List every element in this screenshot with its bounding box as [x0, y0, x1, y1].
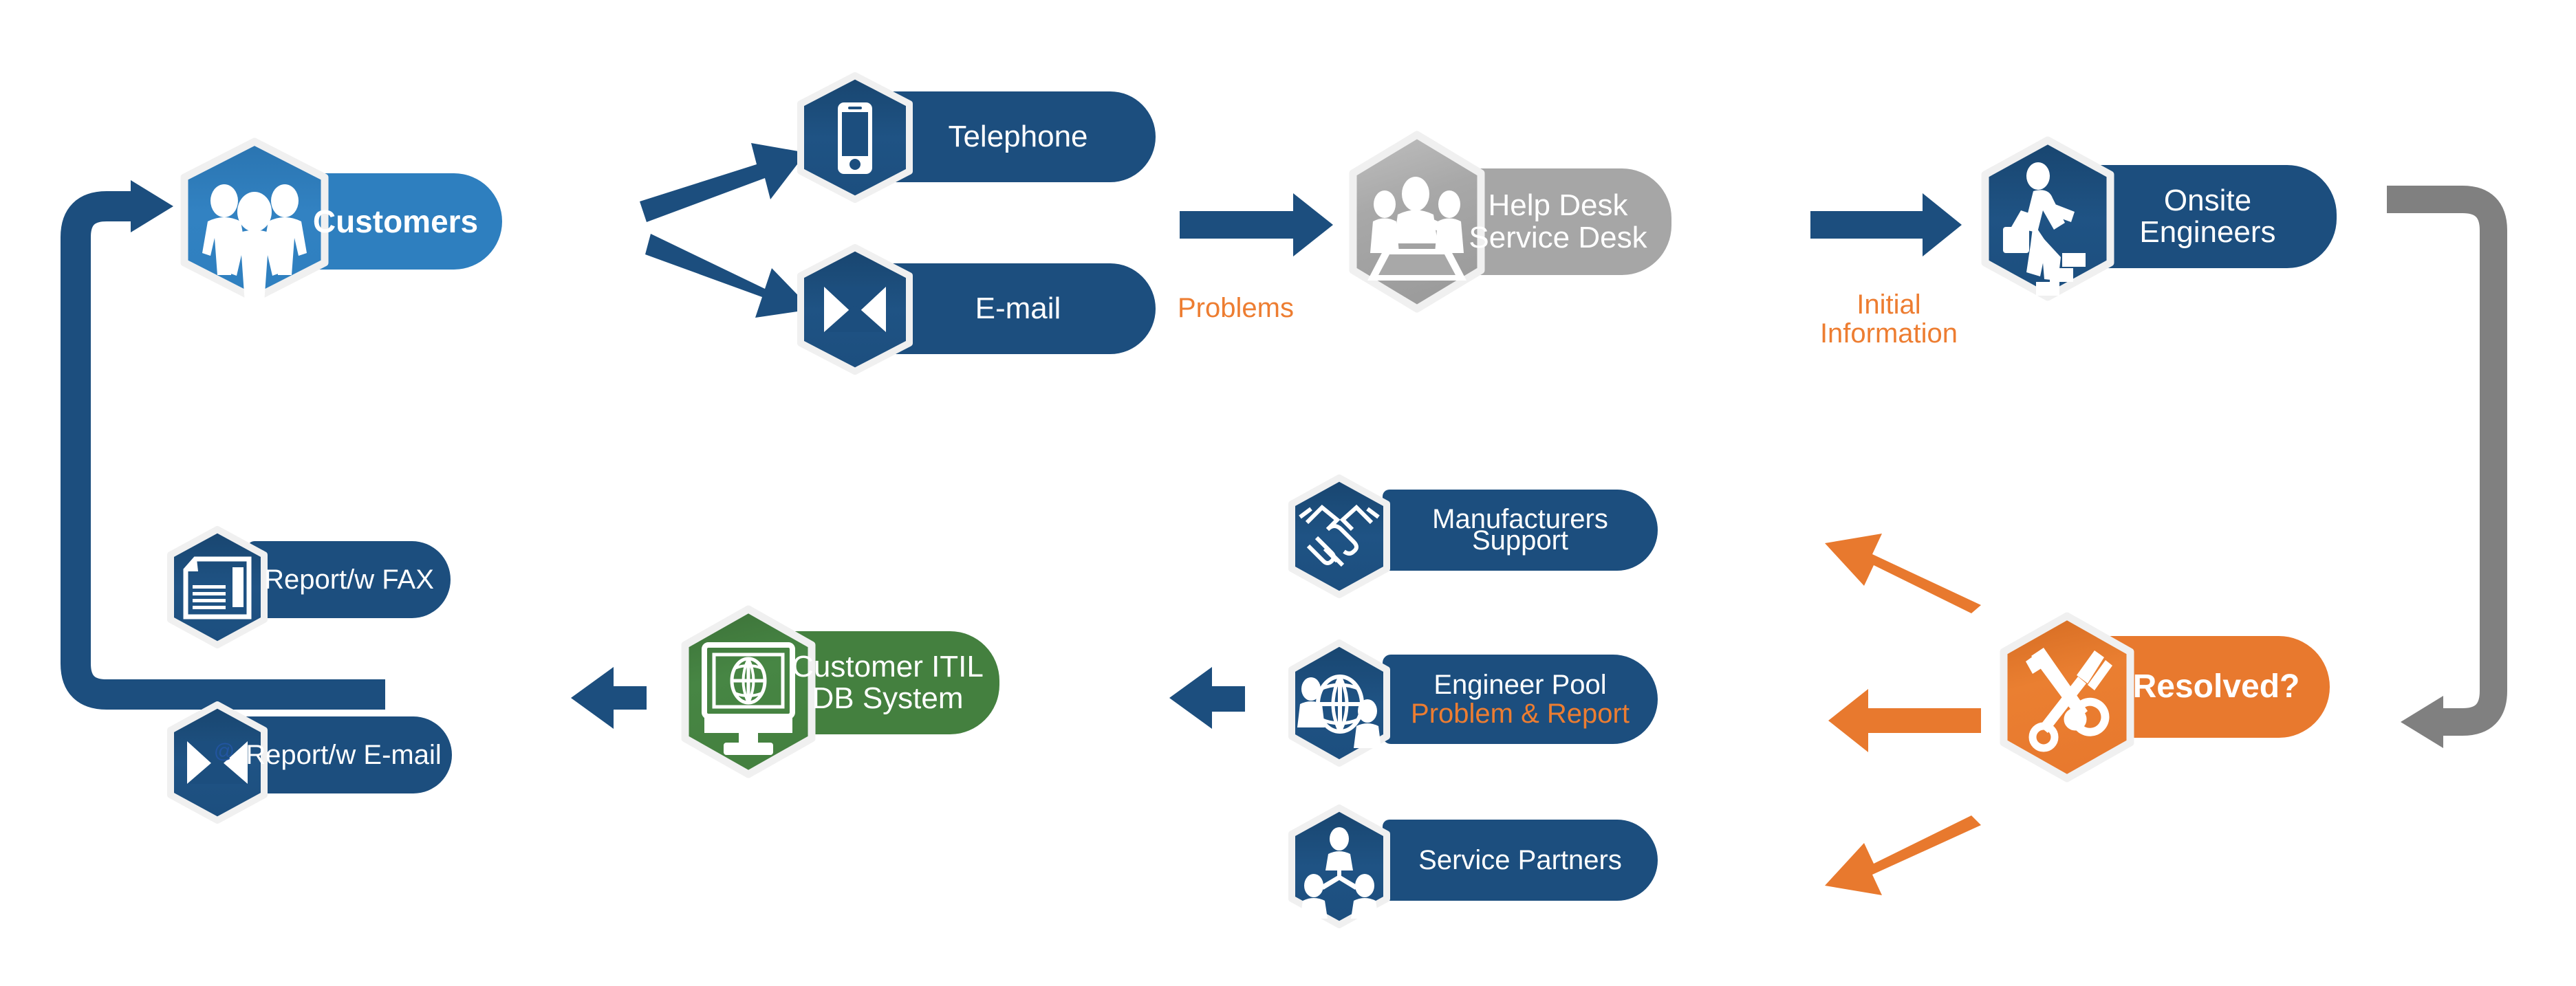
email-pill[interactable]: E-mail: [880, 263, 1156, 354]
engineer-pool-pill[interactable]: Engineer Pool Problem & Report: [1383, 655, 1658, 744]
connector-engineer-pool-to-itil-db: [1169, 667, 1245, 729]
connector-customers-to-telephone: [640, 143, 806, 222]
onsite-engineers-label: Onsite Engineers: [2139, 185, 2275, 248]
connector-itil-db-to-reports: [571, 667, 647, 729]
report-fax-pill[interactable]: Report/w FAX: [248, 541, 451, 618]
report-fax-hexagon[interactable]: [158, 526, 277, 648]
engineer-pool-hexagon[interactable]: [1279, 639, 1400, 767]
envelope-at-icon: @: [187, 740, 248, 784]
connector-resolved-to-manufacturers: [1825, 534, 1981, 613]
customers-label: Customers: [313, 205, 478, 238]
telephone-hexagon[interactable]: [790, 72, 920, 203]
itil-db-label: Customer ITIL DB System: [792, 651, 984, 714]
three-people-icon: [202, 184, 307, 303]
resolved-label: Resolved?: [2133, 670, 2300, 704]
connector-problems-arrow: [1180, 193, 1333, 256]
resolved-hexagon[interactable]: [1984, 612, 2150, 782]
mobile-phone-icon: [838, 102, 872, 174]
telephone-label: Telephone: [948, 121, 1087, 153]
flow-label-initial-information: Initial Information: [1772, 261, 2006, 348]
report-fax-label: Report/w FAX: [264, 565, 434, 594]
manufacturers-label: Manufacturers Support: [1432, 509, 1608, 551]
email-hexagon[interactable]: [790, 244, 920, 375]
email-label: E-mail: [975, 293, 1061, 325]
manufacturers-hexagon[interactable]: [1279, 474, 1400, 598]
report-email-label: Report/w E-mail: [246, 741, 442, 769]
connector-resolved-to-service-partners: [1825, 815, 1981, 895]
connector-onsite-to-resolved: [2387, 199, 2493, 748]
service-partners-hexagon[interactable]: [1279, 804, 1400, 928]
engineer-pool-label: Engineer Pool: [1433, 670, 1606, 699]
connector-resolved-to-engineer-pool: [1828, 689, 1981, 752]
initial-information-text: Initial Information: [1820, 289, 1958, 349]
flow-label-problems: Problems: [1178, 265, 1336, 322]
manufacturers-pill[interactable]: Manufacturers Support: [1383, 490, 1658, 571]
service-counter-icon: [1367, 177, 1466, 281]
service-partners-label: Service Partners: [1418, 846, 1622, 875]
engineer-pool-sublabel: Problem & Report: [1411, 699, 1630, 728]
svg-text:@: @: [214, 740, 235, 763]
connector-customers-to-email: [645, 234, 812, 318]
connector-initial-info-arrow: [1810, 193, 1962, 256]
diagram-canvas: Customers: [0, 0, 2576, 986]
problems-text: Problems: [1178, 293, 1294, 323]
service-partners-pill[interactable]: Service Partners: [1383, 820, 1658, 901]
telephone-pill[interactable]: Telephone: [880, 91, 1156, 182]
helpdesk-label: Help Desk Service Desk: [1469, 190, 1647, 253]
envelope-icon: [824, 287, 886, 332]
